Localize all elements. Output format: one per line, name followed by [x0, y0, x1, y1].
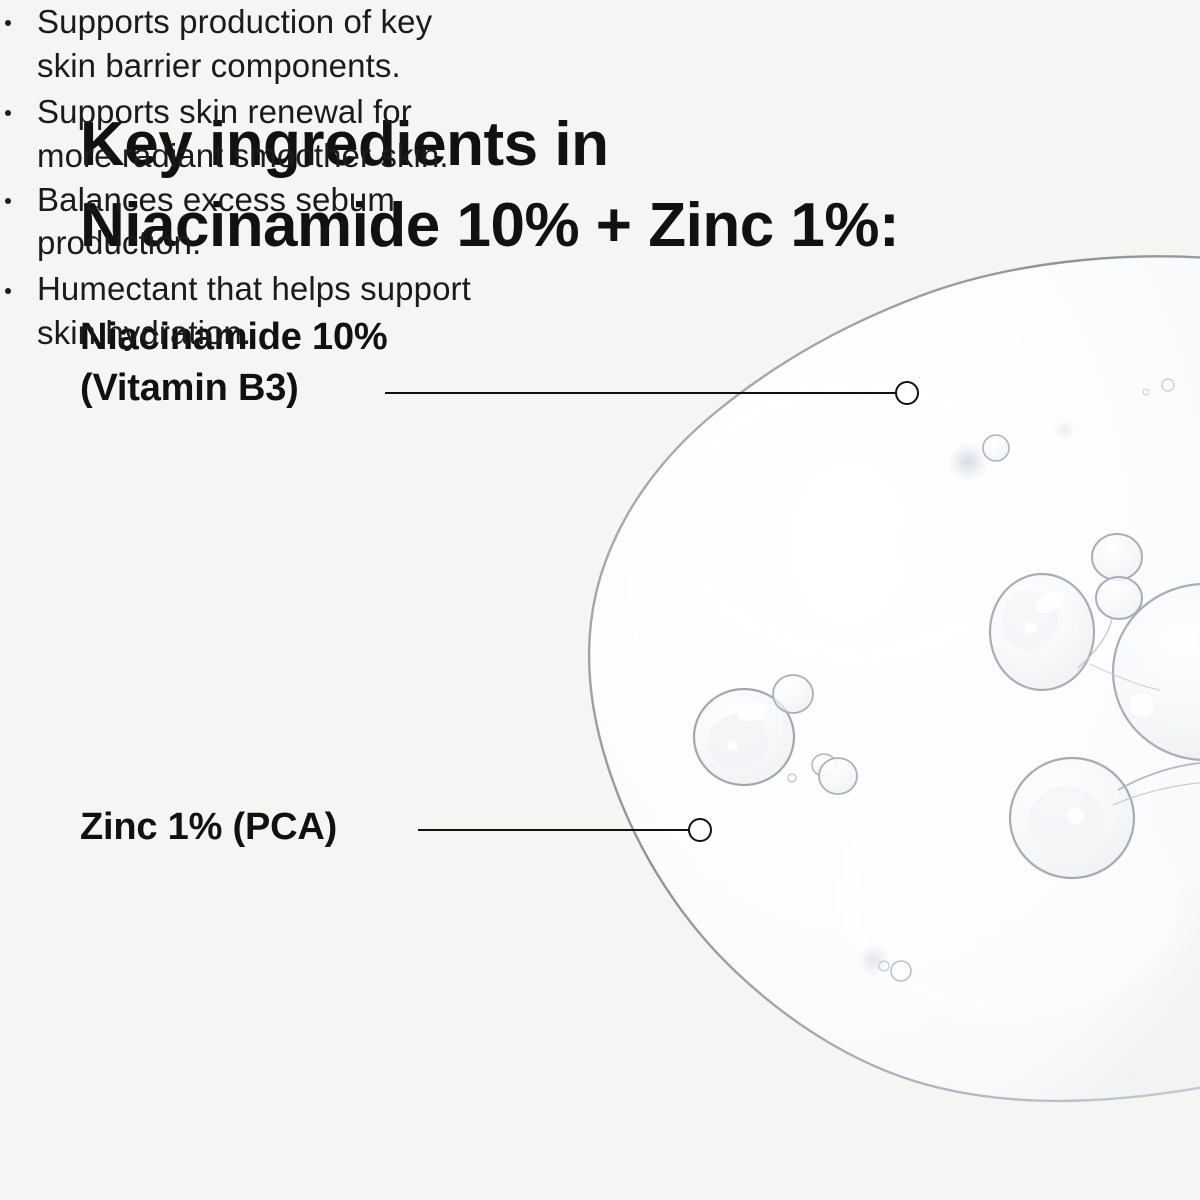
leader-line-stroke: [418, 829, 690, 831]
list-item: Humectant that helps support skin hydrat…: [0, 267, 500, 355]
list-item-text: Balances excess sebum production.: [37, 178, 500, 266]
list-item-text: Humectant that helps support skin hydrat…: [37, 267, 500, 355]
bubble-cluster-center: [694, 675, 857, 794]
bubble-tiny-upper-right: [1143, 379, 1174, 395]
list-item: Supports skin renewal for more radiant s…: [0, 90, 470, 178]
zinc-heading-line-1: Zinc 1% (PCA): [80, 802, 337, 853]
list-item: Supports production of key skin barrier …: [0, 0, 470, 88]
product-ingredient-infographic: Key ingredients in Niacinamide 10% + Zin…: [0, 0, 1200, 1200]
leader-line-endpoint-circle-icon: [688, 818, 712, 842]
callout-heading-zinc: Zinc 1% (PCA): [80, 802, 337, 853]
bullet-dot-icon: [5, 198, 11, 204]
bubble-lower-right: [1010, 758, 1200, 878]
niacinamide-heading-line-2: (Vitamin B3): [80, 363, 387, 414]
leader-line-zinc: [418, 818, 728, 842]
bullet-dot-icon: [5, 20, 11, 26]
leader-line-stroke: [385, 392, 897, 394]
bubble-cluster-right: [990, 534, 1200, 760]
leader-line-niacinamide: [385, 381, 925, 405]
list-item: Balances excess sebum production.: [0, 178, 500, 266]
bubbles-tiny-bottom: [879, 961, 911, 981]
list-item-text: Supports skin renewal for more radiant s…: [37, 90, 470, 178]
list-item-text: Supports production of key skin barrier …: [37, 0, 470, 88]
bubble-small-top: [983, 435, 1009, 461]
bullet-dot-icon: [5, 110, 11, 116]
leader-line-endpoint-circle-icon: [895, 381, 919, 405]
bullet-list-niacinamide: Supports production of key skin barrier …: [0, 0, 470, 178]
bullet-dot-icon: [5, 288, 11, 294]
